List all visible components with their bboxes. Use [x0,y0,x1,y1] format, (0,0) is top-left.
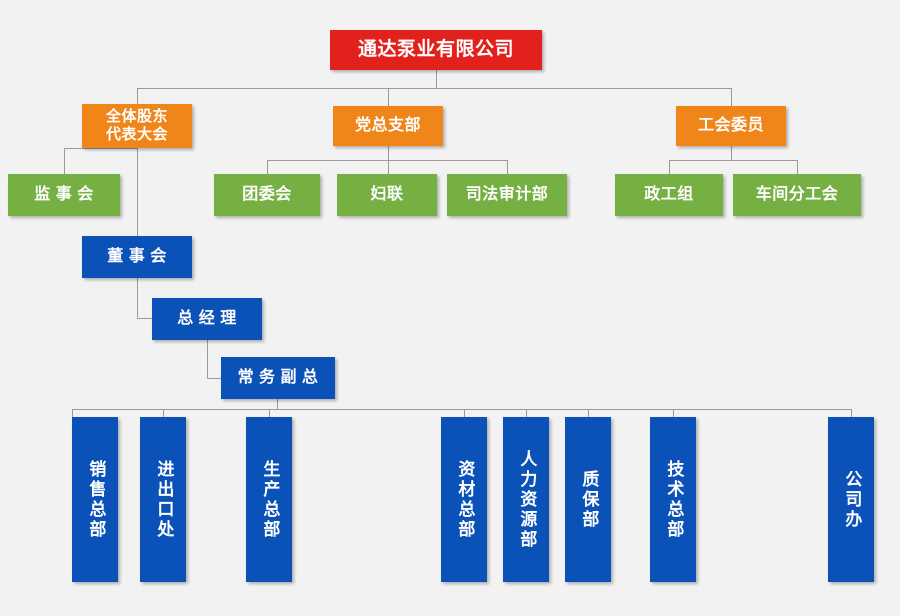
org-node-sales[interactable]: 销售总部 [72,417,118,582]
connector-line [388,146,389,160]
org-node-quality[interactable]: 质保部 [565,417,611,582]
org-node-union[interactable]: 工会委员 [676,106,786,146]
connector-line [388,88,389,106]
org-node-superv[interactable]: 监 事 会 [8,174,120,216]
connector-line [137,318,153,319]
org-node-office[interactable]: 公司办 [828,417,874,582]
org-node-audit[interactable]: 司法审计部 [447,174,567,216]
connector-line [267,160,268,174]
connector-line [72,409,851,410]
connector-line [137,278,138,318]
org-node-sharehold[interactable]: 全体股东代表大会 [82,104,192,148]
connector-line [669,160,797,161]
connector-line [797,160,798,174]
connector-line [436,70,437,88]
connector-line [64,148,137,149]
org-node-import[interactable]: 进出口处 [140,417,186,582]
org-node-workshop[interactable]: 车间分工会 [733,174,861,216]
org-node-youth[interactable]: 团委会 [214,174,320,216]
org-node-women[interactable]: 妇联 [337,174,437,216]
org-node-tech[interactable]: 技术总部 [650,417,696,582]
connector-line [731,88,732,106]
org-node-material[interactable]: 资材总部 [441,417,487,582]
connector-line [669,160,670,174]
connector-line [64,148,65,174]
connector-line [277,399,278,409]
org-node-hr[interactable]: 人力资源部 [503,417,549,582]
connector-line [207,340,208,378]
org-node-company[interactable]: 通达泵业有限公司 [330,30,542,70]
connector-line [267,160,507,161]
connector-line [731,146,732,160]
org-node-product[interactable]: 生产总部 [246,417,292,582]
org-node-board[interactable]: 董 事 会 [82,236,192,278]
connector-line [388,160,389,174]
org-node-gm[interactable]: 总 经 理 [152,298,262,340]
org-node-polit[interactable]: 政工组 [615,174,723,216]
org-node-party[interactable]: 党总支部 [333,106,443,146]
connector-line [207,378,222,379]
org-chart-canvas: 通达泵业有限公司全体股东代表大会党总支部工会委员监 事 会团委会妇联司法审计部政… [0,0,900,616]
connector-line [507,160,508,174]
connector-line [137,148,138,236]
org-node-deputy[interactable]: 常 务 副 总 [221,357,335,399]
connector-line [137,88,138,104]
connector-line [137,88,731,89]
